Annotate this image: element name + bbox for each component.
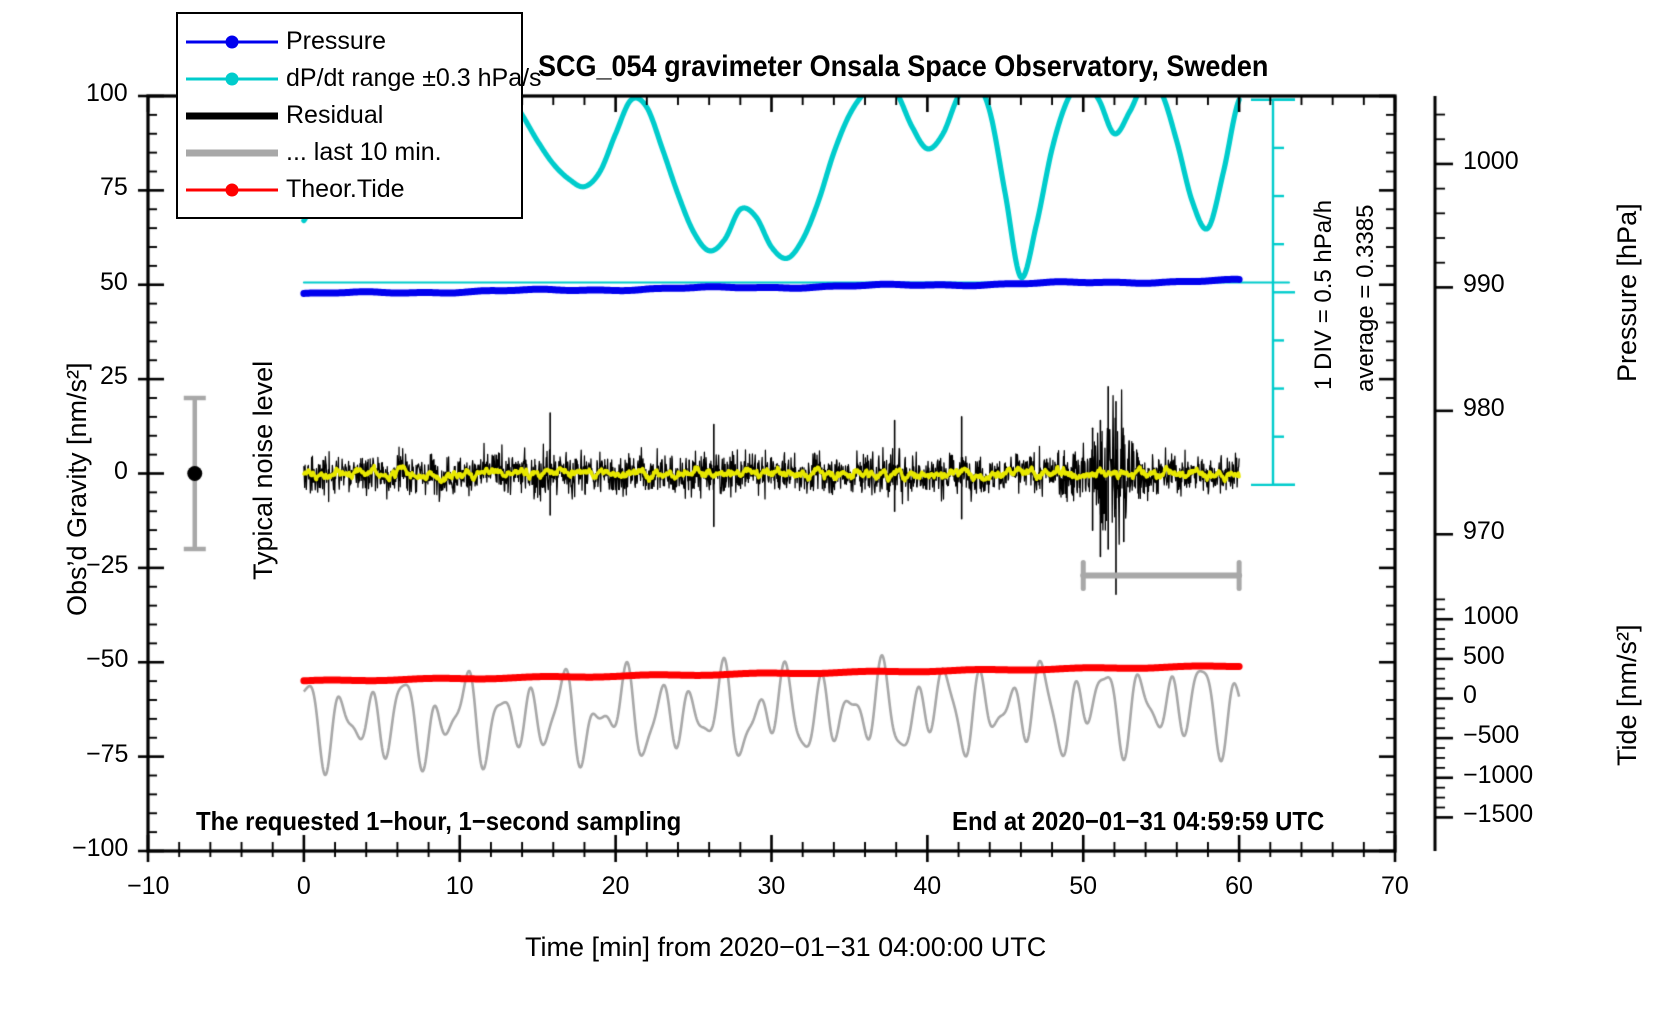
- legend-item-residual: Residual: [178, 97, 521, 134]
- left-axis-tick-label: 0: [114, 457, 128, 486]
- legend-item-theor-tide: Theor.Tide: [178, 171, 521, 208]
- legend-item-dp-dt-range-0-3-hpa-s: dP/dt range ±0.3 hPa/s: [178, 60, 521, 97]
- bottom-axis-tick-label: 70: [1381, 872, 1409, 901]
- legend-line: [186, 112, 278, 119]
- left-axis-tick-label: −25: [86, 551, 128, 580]
- legend-swatch: [178, 60, 286, 97]
- legend-swatch: [178, 23, 286, 60]
- typical-noise-level-label: Typical noise level: [248, 361, 279, 580]
- legend-label: Residual: [286, 101, 383, 130]
- pressure-axis-tick-label: 980: [1463, 394, 1505, 423]
- end-time-annotation: End at 2020−01−31 04:59:59 UTC: [952, 806, 1324, 837]
- bottom-axis-tick-label: 10: [446, 872, 474, 901]
- legend: PressuredP/dt range ±0.3 hPa/sResidual..…: [176, 12, 523, 219]
- dpdt-average-label: average = 0.3385: [1352, 205, 1380, 393]
- right-pressure-axis-title: Pressure [hPa]: [1612, 203, 1643, 382]
- legend-swatch: [178, 171, 286, 208]
- legend-label: Theor.Tide: [286, 175, 405, 204]
- left-axis-tick-label: 50: [100, 268, 128, 297]
- pressure-axis-tick-label: 970: [1463, 517, 1505, 546]
- bottom-axis-tick-label: 30: [758, 872, 786, 901]
- legend-label: dP/dt range ±0.3 hPa/s: [286, 64, 542, 93]
- tide-axis-tick-label: −500: [1463, 721, 1519, 750]
- pressure-axis-tick-label: 990: [1463, 270, 1505, 299]
- left-axis-tick-label: 25: [100, 362, 128, 391]
- bottom-axis-tick-label: −10: [127, 872, 169, 901]
- legend-line: [186, 149, 278, 156]
- legend-dot: [226, 72, 239, 85]
- bottom-axis-title: Time [min] from 2020−01−31 04:00:00 UTC: [525, 932, 1046, 963]
- legend-dot: [226, 183, 239, 196]
- legend-label: ... last 10 min.: [286, 138, 442, 167]
- gravimeter-plot-page: SCG_054 gravimeter Onsala Space Observat…: [0, 0, 1676, 1020]
- left-axis-tick-label: −75: [86, 740, 128, 769]
- left-axis-tick-label: 100: [86, 79, 128, 108]
- bottom-axis-tick-label: 40: [913, 872, 941, 901]
- left-axis-tick-label: −50: [86, 645, 128, 674]
- legend-swatch: [178, 97, 286, 134]
- left-axis-tick-label: −100: [72, 834, 128, 863]
- bottom-axis-tick-label: 20: [602, 872, 630, 901]
- sampling-annotation: The requested 1−hour, 1−second sampling: [196, 806, 681, 837]
- page-title: SCG_054 gravimeter Onsala Space Observat…: [538, 50, 1268, 84]
- bottom-axis-tick-label: 50: [1069, 872, 1097, 901]
- legend-item-pressure: Pressure: [178, 23, 521, 60]
- legend-swatch: [178, 134, 286, 171]
- legend-label: Pressure: [286, 27, 386, 56]
- tide-axis-tick-label: 0: [1463, 681, 1477, 710]
- legend-item-last-10-min: ... last 10 min.: [178, 134, 521, 171]
- tide-axis-tick-label: 500: [1463, 642, 1505, 671]
- bottom-axis-tick-label: 0: [297, 872, 311, 901]
- dpdt-division-label: 1 DIV = 0.5 hPa/h: [1310, 200, 1338, 390]
- left-axis-tick-label: 75: [100, 173, 128, 202]
- tide-axis-tick-label: −1500: [1463, 800, 1533, 829]
- right-tide-axis-title: Tide [nm/s²]: [1612, 624, 1643, 766]
- bottom-axis-tick-label: 60: [1225, 872, 1253, 901]
- tide-axis-tick-label: −1000: [1463, 761, 1533, 790]
- legend-dot: [226, 35, 239, 48]
- pressure-axis-tick-label: 1000: [1463, 147, 1519, 176]
- tide-axis-tick-label: 1000: [1463, 602, 1519, 631]
